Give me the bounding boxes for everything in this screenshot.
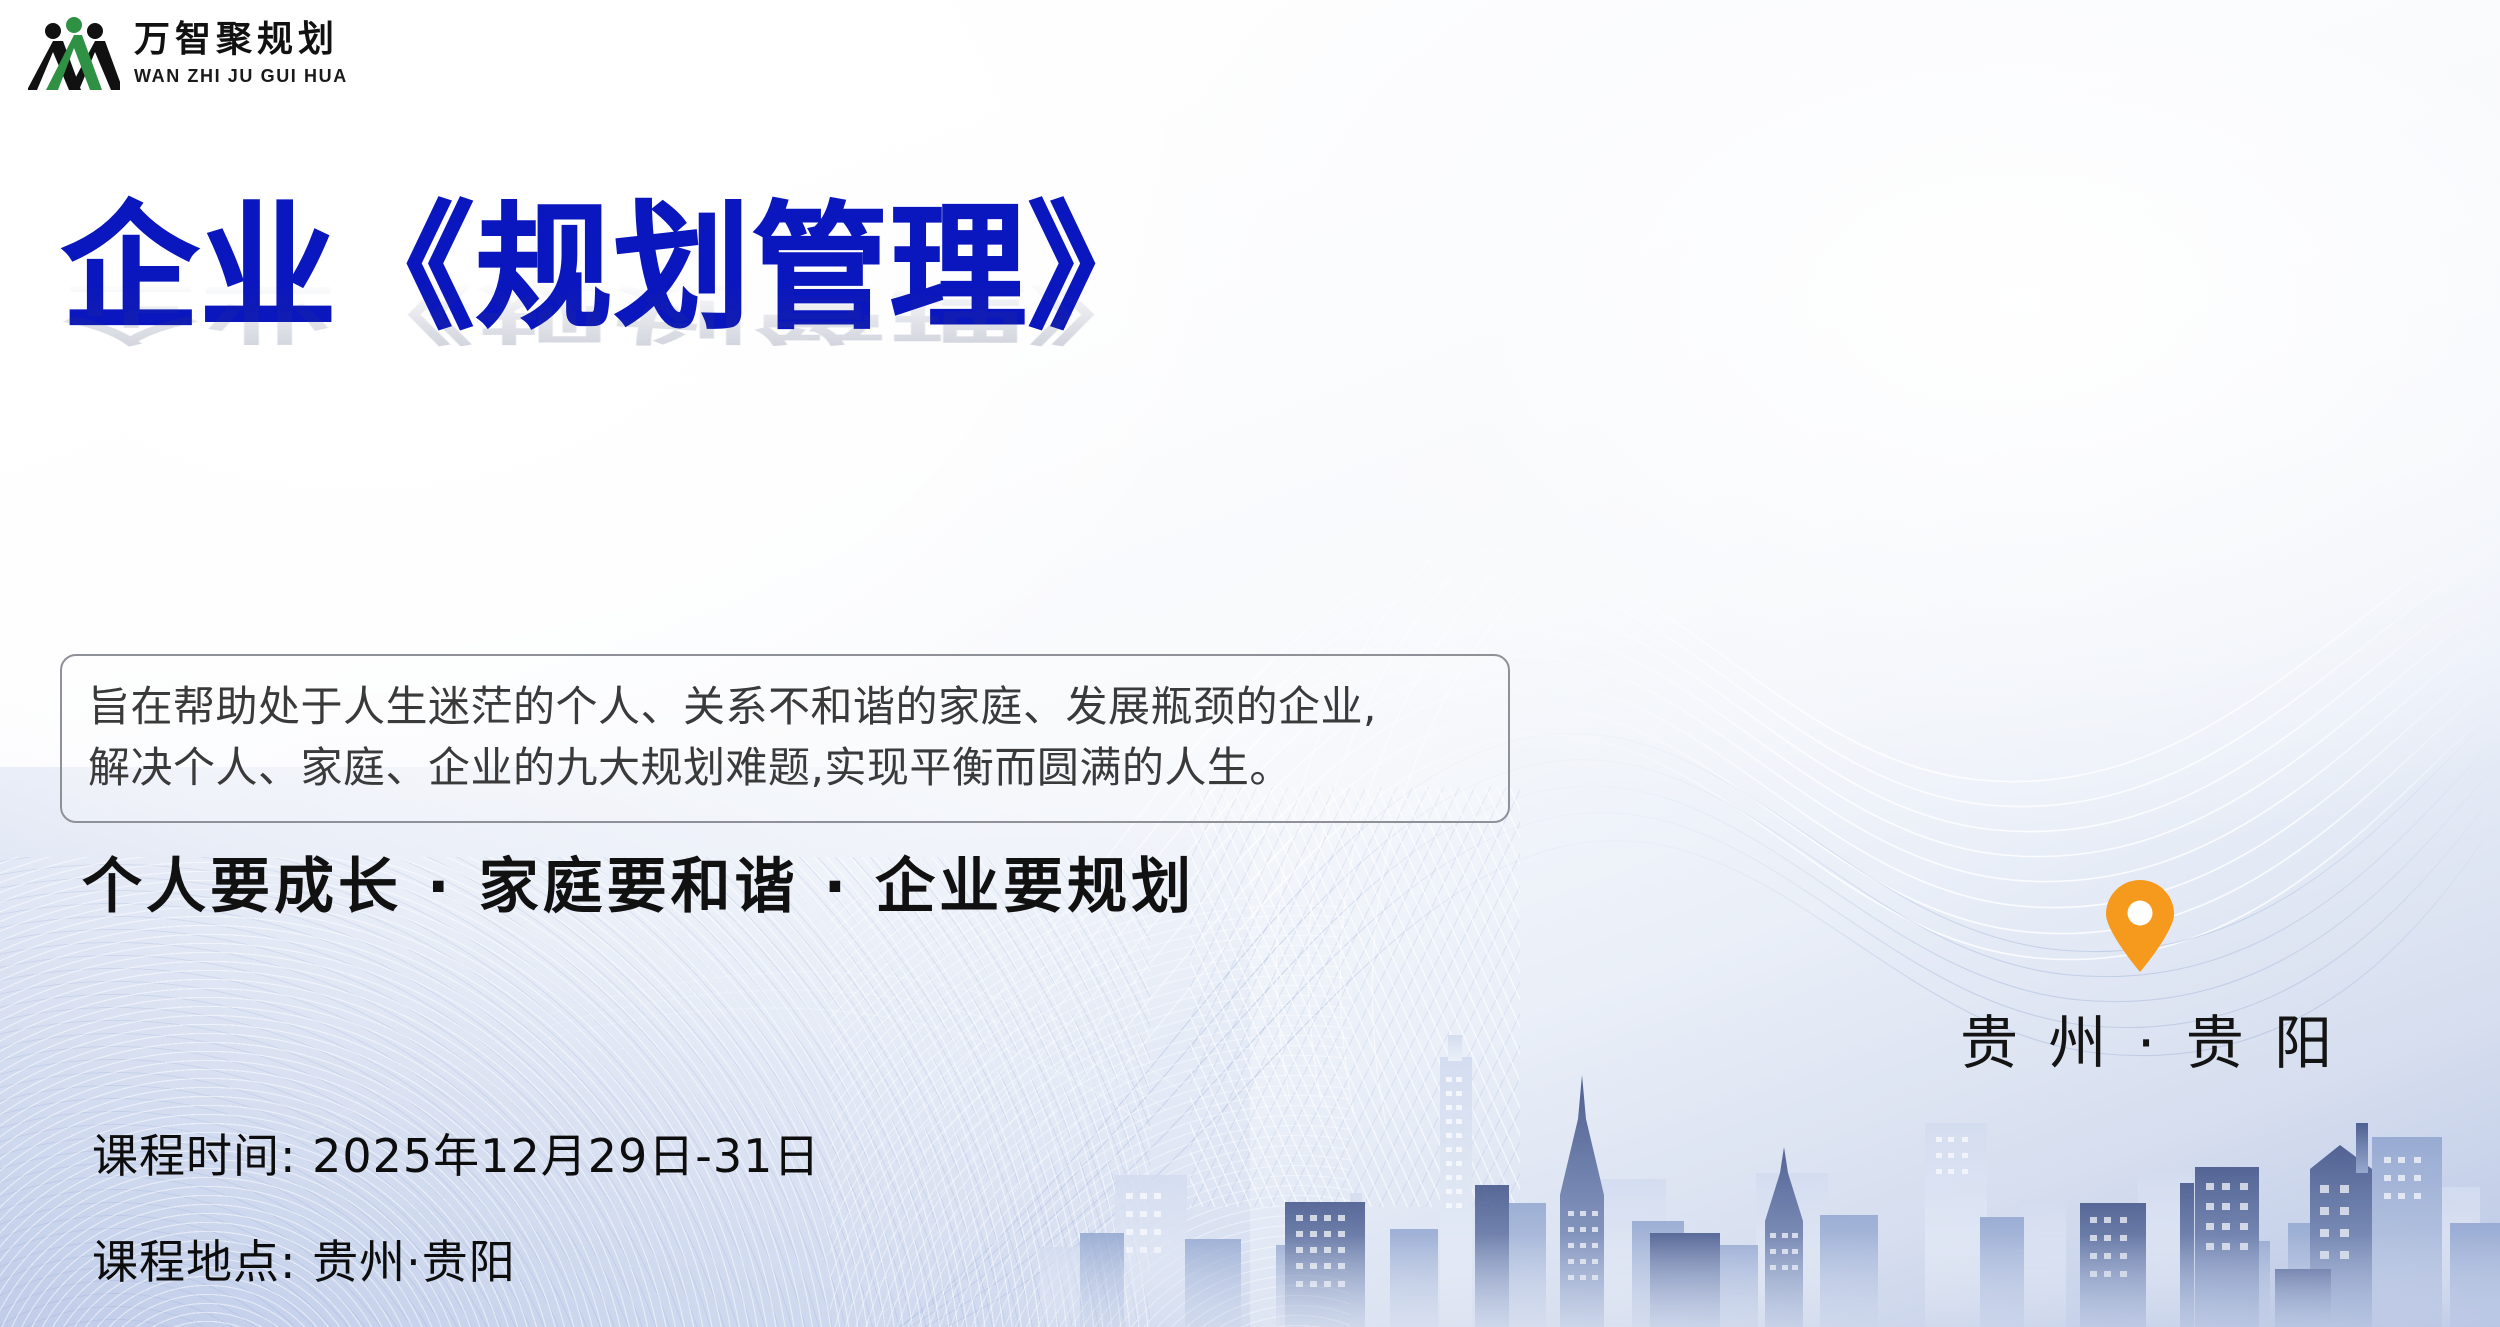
poster-canvas: 万智聚规划 WAN ZHI JU GUI HUA 企业《规划管理》 企业《规划管… [0, 0, 2500, 1327]
dot-moire-pattern-secondary-icon [830, 897, 1350, 1327]
page-title: 企业《规划管理》 [62, 196, 1166, 343]
description-line-2: 解决个人、家庭、企业的九大规划难题,实现平衡而圆满的人生。 [88, 737, 1482, 798]
three-people-logo-icon [28, 14, 120, 92]
course-time-row: 课程时间: 2025年12月29日-31日 [92, 1120, 820, 1186]
description-box: 旨在帮助处于人生迷茫的个人、关系不和谐的家庭、发展瓶颈的企业, 解决个人、家庭、… [60, 654, 1510, 823]
brand-name-cn: 万智聚规划 [134, 22, 348, 58]
brand-text: 万智聚规划 WAN ZHI JU GUI HUA [134, 22, 348, 85]
location-block: 贵 州 · 贵 阳 [1960, 880, 2320, 1080]
map-pin-icon [2103, 880, 2177, 972]
course-meta: 课程时间: 2025年12月29日-31日 课程地点: 贵州·贵阳 [92, 1120, 820, 1292]
slogan-text: 个人要成长 · 家庭要和谐 · 企业要规划 [82, 838, 1195, 925]
brand-logo[interactable]: 万智聚规划 WAN ZHI JU GUI HUA [28, 14, 348, 92]
location-name: 贵 州 · 贵 阳 [1960, 996, 2320, 1080]
hero-title-group: 企业《规划管理》 企业《规划管理》 [62, 196, 1166, 494]
brand-name-en: WAN ZHI JU GUI HUA [134, 67, 348, 85]
dot-grid-pattern-icon [1190, 787, 1520, 1207]
description-line-1: 旨在帮助处于人生迷茫的个人、关系不和谐的家庭、发展瓶颈的企业, [88, 676, 1482, 737]
course-place-row: 课程地点: 贵州·贵阳 [92, 1226, 820, 1292]
